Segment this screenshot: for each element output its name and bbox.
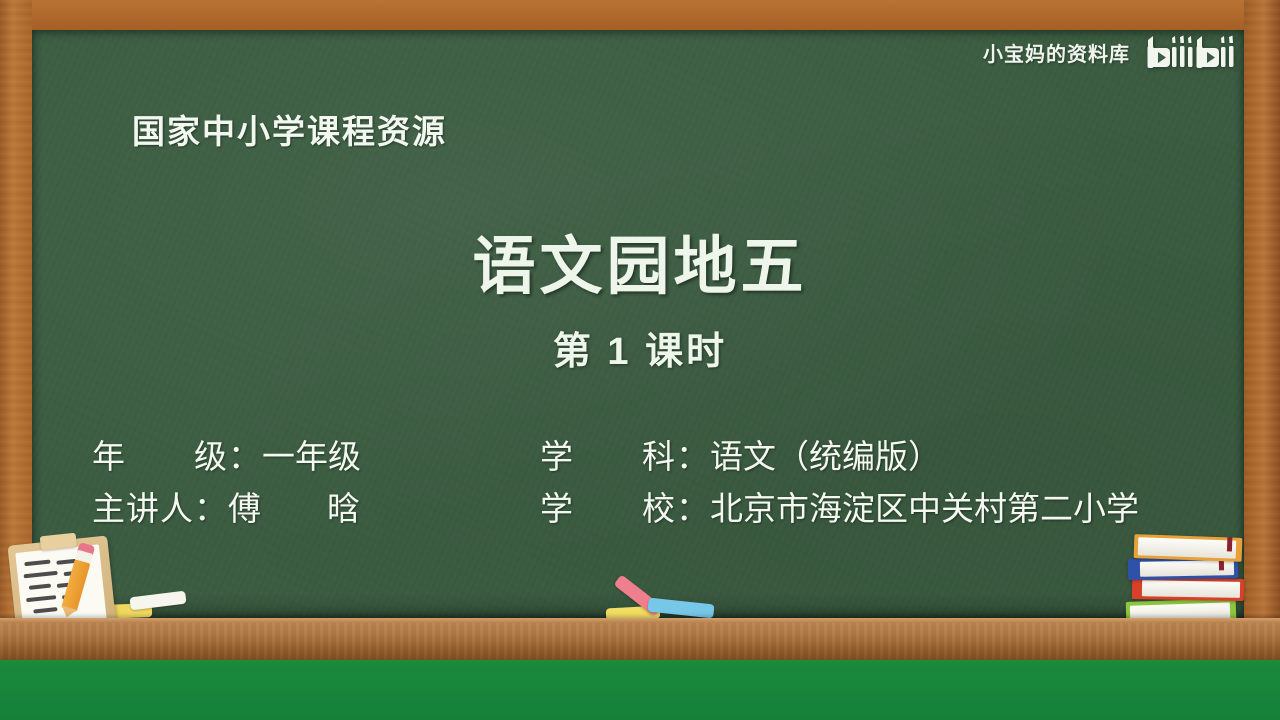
info-subject: 学 科：语文（统编版） [540,432,1212,484]
info-row: 主讲人：傅 晗 学 校：北京市海淀区中关村第二小学 [92,484,1212,536]
book-stack-illustration [1126,528,1248,628]
watermark: 小宝妈的资料库 [983,34,1236,70]
lesson-main-title: 语文园地五 [0,216,1280,307]
book-orange [1134,534,1243,562]
bottom-green-band [0,660,1280,720]
watermark-text: 小宝妈的资料库 [983,38,1130,67]
frame-top [0,0,1280,30]
slide-root: 小宝妈的资料库 [0,0,1280,720]
bilibili-logo-icon [1144,34,1236,70]
info-teacher: 主讲人：傅 晗 [92,484,540,536]
chalk-ledge [0,618,1280,660]
info-grade: 年 级：一年级 [92,432,540,484]
school-value: 北京市海淀区中关村第二小学 [710,492,1139,528]
teacher-value: 傅 晗 [228,492,360,528]
lesson-info: 年 级：一年级 学 科：语文（统编版） 主讲人：傅 晗 学 校：北京市海淀区中关… [92,432,1212,536]
subject-label: 学 科： [540,440,710,476]
lesson-period-subtitle: 第 1 课时 [0,320,1280,375]
teacher-label: 主讲人： [92,492,228,528]
school-label: 学 校： [540,492,710,528]
grade-label: 年 级： [92,440,262,476]
info-school: 学 校：北京市海淀区中关村第二小学 [540,484,1212,536]
grade-value: 一年级 [262,440,361,476]
book-red [1132,577,1244,601]
chalk-ledge-lip [0,618,1280,623]
info-row: 年 级：一年级 学 科：语文（统编版） [92,432,1212,484]
site-title: 国家中小学课程资源 [132,105,447,153]
subject-value: 语文（统编版） [710,440,941,476]
